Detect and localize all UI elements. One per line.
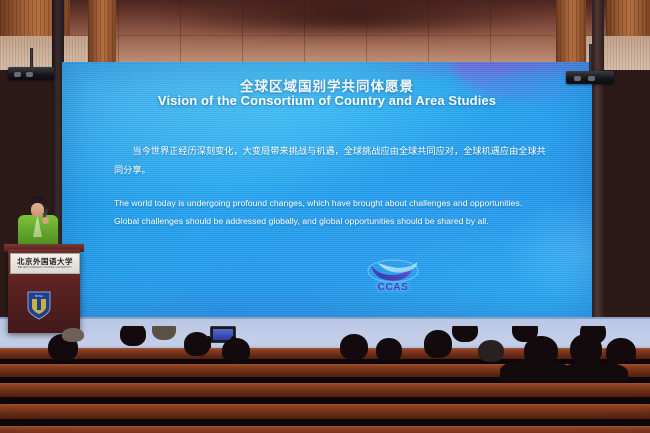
pew-row-4 xyxy=(0,404,650,419)
presentation-screen: 全球区域国别学共同体愿景 Vision of the Consortium of… xyxy=(62,62,592,317)
auditorium-photo: 全球区域国别学共同体愿景 Vision of the Consortium of… xyxy=(0,0,650,433)
podium-name-en: BEIJING FOREIGN STUDIES UNIVERSITY xyxy=(11,266,79,269)
ccas-logo-text: CCAS xyxy=(364,282,422,293)
slide-content: 全球区域国别学共同体愿景 Vision of the Consortium of… xyxy=(62,62,592,317)
slide-title-en: Vision of the Consortium of Country and … xyxy=(62,93,592,108)
university-crest-icon: BFSU xyxy=(26,290,52,320)
wall-wood-panel-left-2 xyxy=(88,0,116,70)
slide-body-en-line-2: Global challenges should be addressed gl… xyxy=(114,213,554,231)
speaker-person xyxy=(16,196,60,248)
pew-row-5 xyxy=(0,426,650,433)
ceiling-projector-right xyxy=(566,44,614,84)
ceiling-projector-left xyxy=(8,48,54,80)
slide-body-en-line-1: The world today is undergoing profound c… xyxy=(114,195,554,213)
ccas-swoosh-icon xyxy=(364,258,422,284)
podium-nameplate: 北京外国语大学 BEIJING FOREIGN STUDIES UNIVERSI… xyxy=(10,253,80,274)
slide-body-en: The world today is undergoing profound c… xyxy=(114,195,554,230)
slide-body-cn: 当今世界正经历深刻变化，大变局带来挑战与机遇，全球挑战应由全球共同应对，全球机遇… xyxy=(114,142,554,180)
ccas-logo: CCAS xyxy=(364,258,422,304)
svg-text:BFSU: BFSU xyxy=(35,294,43,298)
pew-row-3 xyxy=(0,383,650,397)
slide-title-cn: 全球区域国别学共同体愿景 xyxy=(62,75,592,95)
audience-area xyxy=(0,326,650,433)
